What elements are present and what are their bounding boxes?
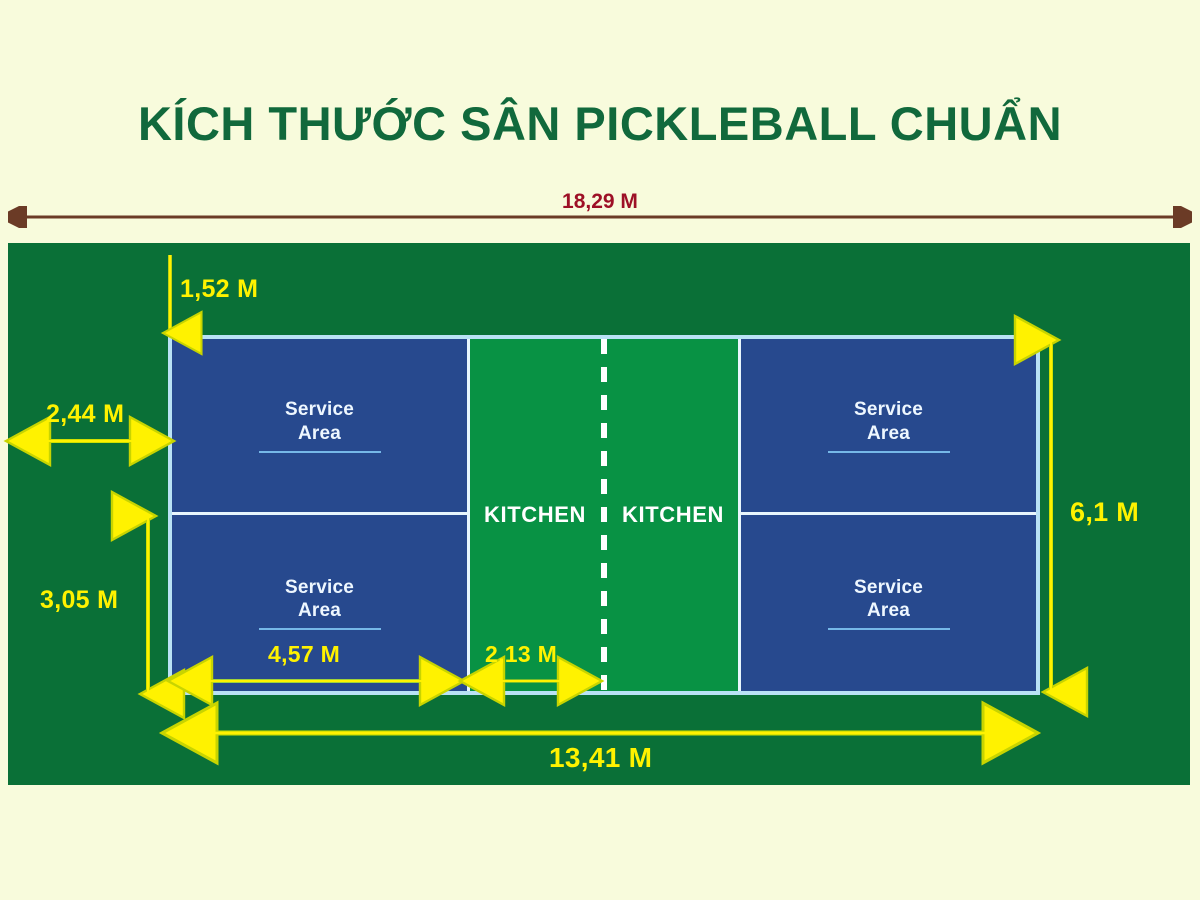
service-area-label-line2: Area bbox=[298, 423, 341, 444]
service-area-right-top: Service Area bbox=[741, 339, 1036, 515]
service-area-right-bottom: Service Area bbox=[741, 515, 1036, 691]
service-area-label-line2: Area bbox=[867, 423, 910, 444]
service-area-label: Service Area bbox=[285, 576, 354, 622]
court-length-label: 13,41 M bbox=[549, 742, 652, 774]
service-area-underline bbox=[259, 628, 381, 630]
service-area-label-line1: Service bbox=[285, 577, 354, 598]
service-area-label: Service Area bbox=[285, 398, 354, 444]
service-area-label: Service Area bbox=[854, 576, 923, 622]
sideline-margin-label: 2,44 M bbox=[46, 400, 124, 429]
overall-length-arrow bbox=[8, 206, 1192, 228]
service-area-left-top: Service Area bbox=[172, 339, 467, 515]
kitchen-zone: KITCHEN KITCHEN bbox=[467, 339, 741, 691]
service-area-label-line2: Area bbox=[867, 600, 910, 621]
diagram-stage: KÍCH THƯỚC SÂN PICKLEBALL CHUẨN 18,29 M … bbox=[0, 0, 1200, 900]
net-center-line bbox=[601, 339, 607, 691]
court-width-label: 6,1 M bbox=[1070, 497, 1139, 528]
page-title: KÍCH THƯỚC SÂN PICKLEBALL CHUẨN bbox=[0, 96, 1200, 151]
kitchen-label-left: KITCHEN bbox=[484, 502, 586, 528]
service-area-underline bbox=[828, 451, 950, 453]
service-area-underline bbox=[259, 451, 381, 453]
court-half-right: Service Area Service Area bbox=[741, 339, 1036, 691]
kitchen-depth-label: 2,13 M bbox=[485, 641, 557, 668]
service-area-label-line1: Service bbox=[854, 577, 923, 598]
service-depth-label: 3,05 M bbox=[40, 586, 118, 615]
service-area-underline bbox=[828, 628, 950, 630]
service-area-label: Service Area bbox=[854, 398, 923, 444]
court-half-left: Service Area Service Area bbox=[172, 339, 467, 691]
service-area-label-line1: Service bbox=[285, 399, 354, 420]
kitchen-label-right: KITCHEN bbox=[622, 502, 724, 528]
court-surface-panel: Service Area Service Area KITCHEN KITCHE… bbox=[8, 243, 1190, 785]
service-area-label-line1: Service bbox=[854, 399, 923, 420]
service-width-label: 4,57 M bbox=[268, 641, 340, 668]
service-area-label-line2: Area bbox=[298, 600, 341, 621]
baseline-to-service-label: 1,52 M bbox=[180, 275, 258, 304]
